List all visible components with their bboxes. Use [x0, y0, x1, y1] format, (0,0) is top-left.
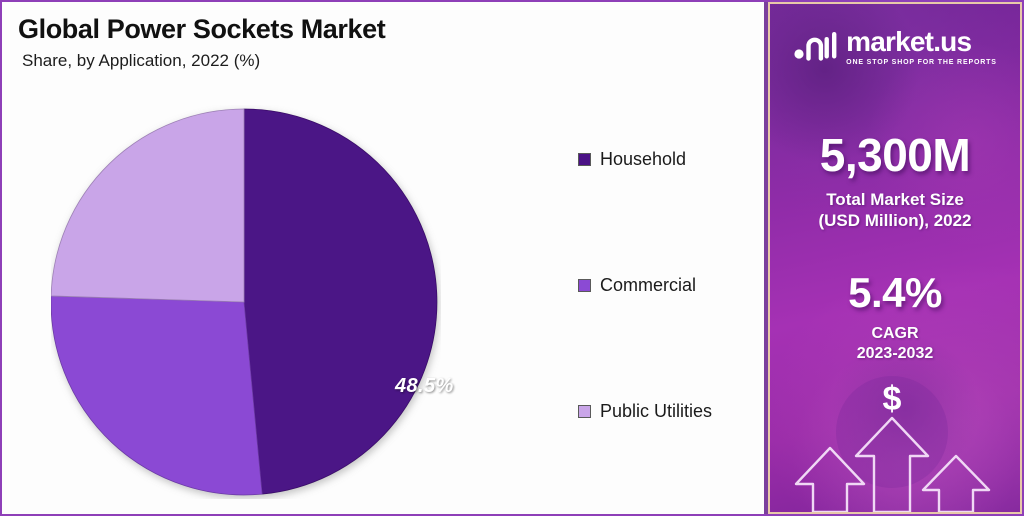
stat-caption-cagr: CAGR 2023-2032	[770, 324, 1020, 363]
stat-caption-line1: CAGR	[770, 324, 1020, 344]
growth-arrows-svg: $	[770, 372, 1020, 512]
legend-swatch-household	[578, 153, 591, 166]
dollar-sign-icon: $	[883, 380, 902, 418]
stat-value-cagr: 5.4%	[770, 272, 1020, 314]
pie-data-label-household: 48.5%	[395, 375, 454, 398]
legend-label-commercial: Commercial	[600, 276, 696, 294]
pie-chart-svg	[51, 105, 441, 499]
legend-item-household[interactable]: Household	[578, 148, 758, 170]
pie-slice-household	[244, 109, 437, 494]
legend-label-household: Household	[600, 150, 686, 168]
pie-chart: 48.5%	[51, 105, 441, 499]
stat-caption-line1: Total Market Size	[770, 190, 1020, 211]
infographic-frame: Global Power Sockets Market Share, by Ap…	[0, 0, 1024, 516]
stat-caption-line2: (USD Million), 2022	[770, 211, 1020, 232]
brand-panel: market.us ONE STOP SHOP FOR THE REPORTS …	[768, 2, 1022, 514]
title-block: Global Power Sockets Market Share, by Ap…	[18, 14, 718, 71]
chart-panel: Global Power Sockets Market Share, by Ap…	[2, 2, 764, 514]
stat-caption-line2: 2023-2032	[770, 344, 1020, 364]
brand-tagline: ONE STOP SHOP FOR THE REPORTS	[846, 59, 997, 66]
growth-arrows-graphic: $	[770, 372, 1020, 512]
legend-item-public-utilities[interactable]: Public Utilities	[578, 400, 758, 422]
market-us-logo-icon	[793, 28, 839, 66]
pie-slice-commercial	[51, 296, 262, 495]
page-title: Global Power Sockets Market	[18, 14, 718, 44]
legend-item-commercial[interactable]: Commercial	[578, 274, 758, 296]
logo-text-block: market.us ONE STOP SHOP FOR THE REPORTS	[846, 28, 997, 66]
brand-logo[interactable]: market.us ONE STOP SHOP FOR THE REPORTS	[770, 28, 1020, 66]
legend-label-public-utilities: Public Utilities	[600, 402, 712, 420]
stat-value-market-size: 5,300M	[770, 132, 1020, 178]
stat-total-market-size: 5,300M Total Market Size (USD Million), …	[770, 132, 1020, 231]
chart-legend: Household Commercial Public Utilities	[578, 148, 758, 422]
legend-swatch-public-utilities	[578, 405, 591, 418]
chart-subtitle: Share, by Application, 2022 (%)	[22, 52, 718, 71]
stat-cagr: 5.4% CAGR 2023-2032	[770, 272, 1020, 363]
stat-caption-market-size: Total Market Size (USD Million), 2022	[770, 190, 1020, 231]
pie-slice-public-utilities	[51, 109, 244, 302]
legend-swatch-commercial	[578, 279, 591, 292]
brand-wordmark: market.us	[846, 28, 997, 56]
